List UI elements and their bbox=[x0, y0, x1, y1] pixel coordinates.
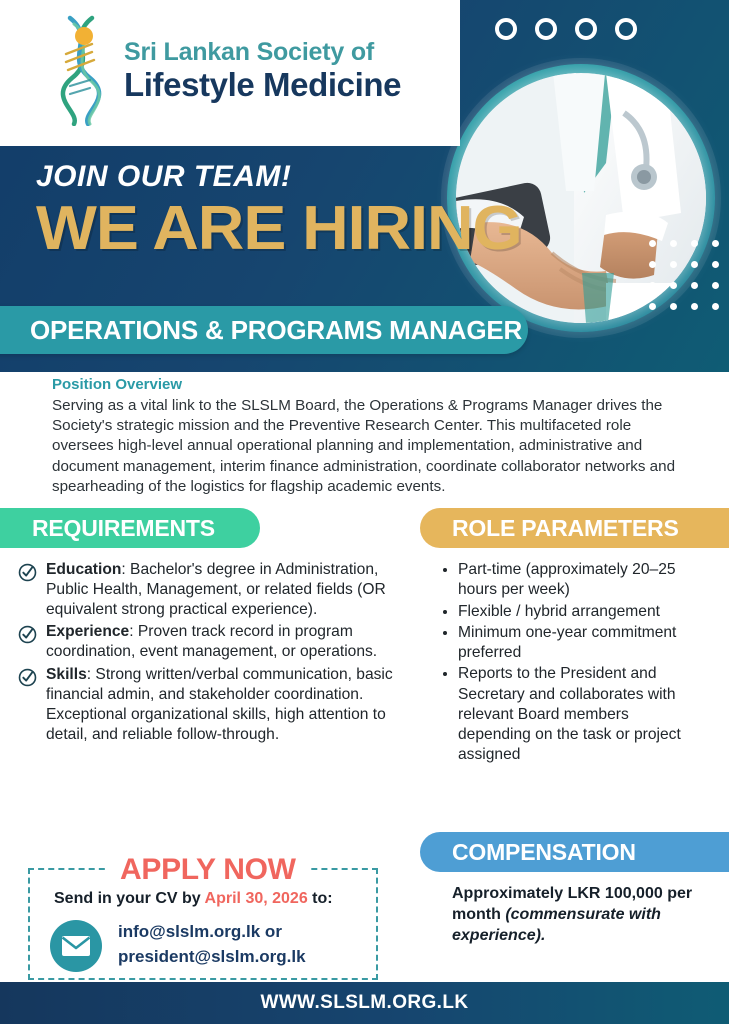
overview-heading: Position Overview bbox=[52, 376, 692, 393]
requirement-item: Skills: Strong written/verbal communicat… bbox=[18, 665, 408, 745]
job-title-banner: OPERATIONS & PROGRAMS MANAGER bbox=[0, 306, 528, 354]
decorative-circles bbox=[495, 18, 637, 40]
overview-body: Serving as a vital link to the SLSLM Boa… bbox=[52, 396, 692, 497]
requirement-text: Education: Bachelor's degree in Administ… bbox=[46, 560, 408, 620]
role-parameter-item: Part-time (approximately 20–25 hours per… bbox=[458, 560, 700, 601]
hero-text-block: JOIN OUR TEAM! WE ARE HIRING bbox=[36, 160, 503, 259]
check-circle-icon bbox=[18, 668, 37, 687]
requirement-item: Experience: Proven track record in progr… bbox=[18, 622, 408, 662]
apply-now-heading: APPLY NOW bbox=[108, 853, 308, 887]
requirement-label: Experience bbox=[46, 623, 129, 640]
circle-outline-3 bbox=[575, 18, 597, 40]
requirements-heading-pill: REQUIREMENTS bbox=[0, 508, 260, 548]
envelope-icon bbox=[50, 920, 102, 972]
circle-outline-2 bbox=[535, 18, 557, 40]
circle-outline-4 bbox=[615, 18, 637, 40]
email-line-2[interactable]: president@slslm.org.lk bbox=[118, 945, 306, 970]
circle-outline-1 bbox=[495, 18, 517, 40]
apply-instruction-suffix: to: bbox=[308, 890, 333, 907]
requirement-item: Education: Bachelor's degree in Administ… bbox=[18, 560, 408, 620]
requirement-text: Skills: Strong written/verbal communicat… bbox=[46, 665, 408, 745]
footer-bar: WWW.SLSLM.ORG.LK bbox=[0, 982, 729, 1024]
requirements-heading: REQUIREMENTS bbox=[32, 515, 215, 542]
organization-logo: Sri Lankan Society of Lifestyle Medicine bbox=[52, 14, 401, 126]
email-line-1[interactable]: info@slslm.org.lk or bbox=[118, 920, 306, 945]
contact-emails[interactable]: info@slslm.org.lk or president@slslm.org… bbox=[118, 920, 306, 969]
apply-deadline: April 30, 2026 bbox=[205, 890, 308, 907]
requirements-list: Education: Bachelor's degree in Administ… bbox=[18, 560, 408, 747]
job-title-text: OPERATIONS & PROGRAMS MANAGER bbox=[30, 315, 522, 346]
decorative-dot-grid bbox=[649, 240, 721, 312]
website-url[interactable]: WWW.SLSLM.ORG.LK bbox=[261, 992, 469, 1014]
dna-helix-sun-logo bbox=[52, 14, 114, 126]
role-parameters-heading-pill: ROLE PARAMETERS bbox=[420, 508, 729, 548]
apply-instruction-prefix: Send in your CV by bbox=[54, 890, 205, 907]
org-name-line2: Lifestyle Medicine bbox=[124, 68, 401, 101]
logo-bar: Sri Lankan Society of Lifestyle Medicine bbox=[0, 0, 460, 146]
requirement-text: Experience: Proven track record in progr… bbox=[46, 622, 408, 662]
apply-instruction: Send in your CV by April 30, 2026 to: bbox=[54, 890, 333, 908]
org-name-line1: Sri Lankan Society of bbox=[124, 40, 401, 65]
job-poster: Sri Lankan Society of Lifestyle Medicine… bbox=[0, 0, 729, 1024]
check-circle-icon bbox=[18, 563, 37, 582]
requirement-label: Education bbox=[46, 561, 121, 578]
role-parameter-item: Minimum one-year commitment preferred bbox=[458, 623, 700, 664]
check-circle-icon bbox=[18, 625, 37, 644]
role-parameter-item: Flexible / hybrid arrangement bbox=[458, 602, 700, 622]
role-parameters-heading: ROLE PARAMETERS bbox=[452, 515, 679, 542]
role-parameter-item: Reports to the President and Secretary a… bbox=[458, 664, 700, 765]
requirement-detail: : Strong written/verbal communication, b… bbox=[46, 666, 393, 743]
compensation-heading-pill: COMPENSATION bbox=[420, 832, 729, 872]
compensation-heading: COMPENSATION bbox=[452, 839, 636, 866]
position-overview: Position Overview Serving as a vital lin… bbox=[52, 376, 692, 497]
hero-headline: WE ARE HIRING bbox=[36, 200, 522, 259]
hero-kicker: JOIN OUR TEAM! bbox=[36, 160, 503, 194]
compensation-body: Approximately LKR 100,000 per month (com… bbox=[452, 884, 714, 946]
requirement-label: Skills bbox=[46, 666, 87, 683]
role-parameters-list: Part-time (approximately 20–25 hours per… bbox=[438, 560, 700, 767]
